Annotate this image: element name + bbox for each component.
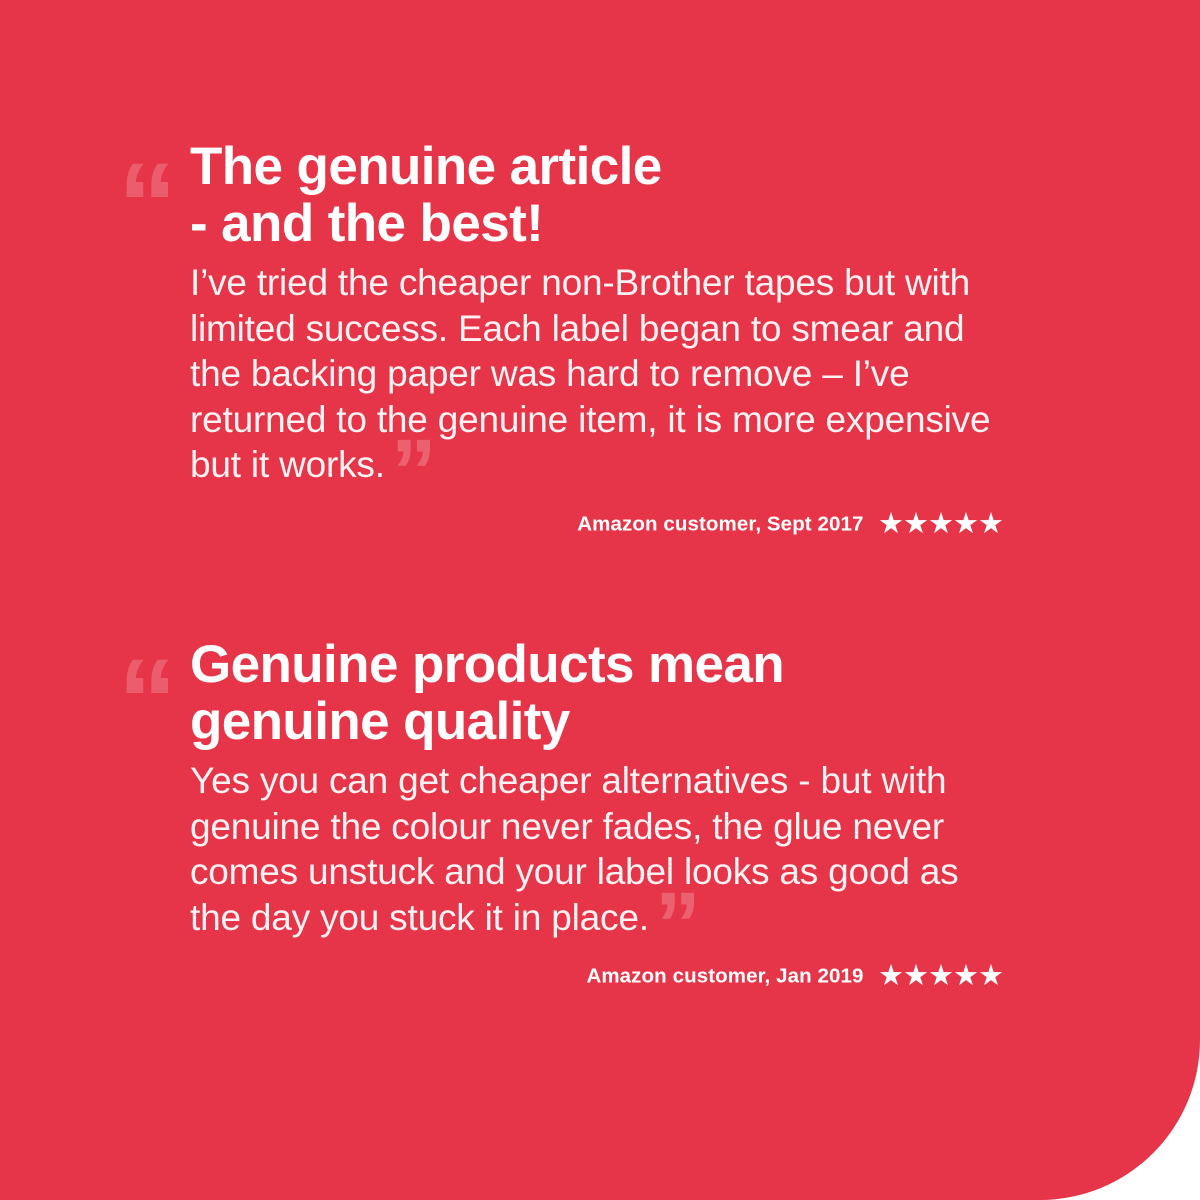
- testimonial-body-text: I’ve tried the cheaper non-Brother tapes…: [190, 262, 990, 485]
- testimonials-card: “ The genuine article - and the best! I’…: [0, 0, 1200, 1200]
- star-icon: ★: [928, 962, 954, 991]
- testimonial-attribution: Amazon customer, Jan 2019 ★★★★★: [0, 962, 1200, 991]
- attribution-label: Amazon customer, Jan 2019: [586, 965, 863, 988]
- star-icon: ★: [878, 510, 904, 539]
- testimonial-2: “ Genuine products mean genuine quality …: [0, 636, 1200, 991]
- testimonial-attribution: Amazon customer, Sept 2017 ★★★★★: [0, 510, 1200, 539]
- star-icon: ★: [953, 510, 979, 539]
- quote-block: “ The genuine article - and the best! I’…: [0, 138, 1200, 488]
- star-icon: ★: [928, 510, 954, 539]
- star-icon: ★: [878, 962, 904, 991]
- testimonial-body-text: Yes you can get cheaper alternatives - b…: [190, 760, 958, 938]
- testimonial-body: I’ve tried the cheaper non-Brother tapes…: [190, 260, 1005, 488]
- testimonial-body: Yes you can get cheaper alternatives - b…: [190, 758, 1005, 940]
- star-icon: ★: [978, 962, 1004, 991]
- star-icon: ★: [903, 510, 929, 539]
- open-quote-icon: “: [118, 146, 190, 264]
- star-icon: ★: [978, 510, 1004, 539]
- open-quote-icon: “: [118, 642, 190, 760]
- quote-block: “ Genuine products mean genuine quality …: [0, 636, 1200, 940]
- attribution-label: Amazon customer, Sept 2017: [577, 512, 863, 535]
- testimonial-1: “ The genuine article - and the best! I’…: [0, 138, 1200, 539]
- star-rating: ★★★★★: [879, 510, 1004, 539]
- star-rating: ★★★★★: [879, 962, 1004, 991]
- star-icon: ★: [903, 962, 929, 991]
- testimonial-headline: Genuine products mean genuine quality: [190, 636, 1005, 750]
- star-icon: ★: [953, 962, 979, 991]
- testimonial-headline: The genuine article - and the best!: [190, 138, 1005, 252]
